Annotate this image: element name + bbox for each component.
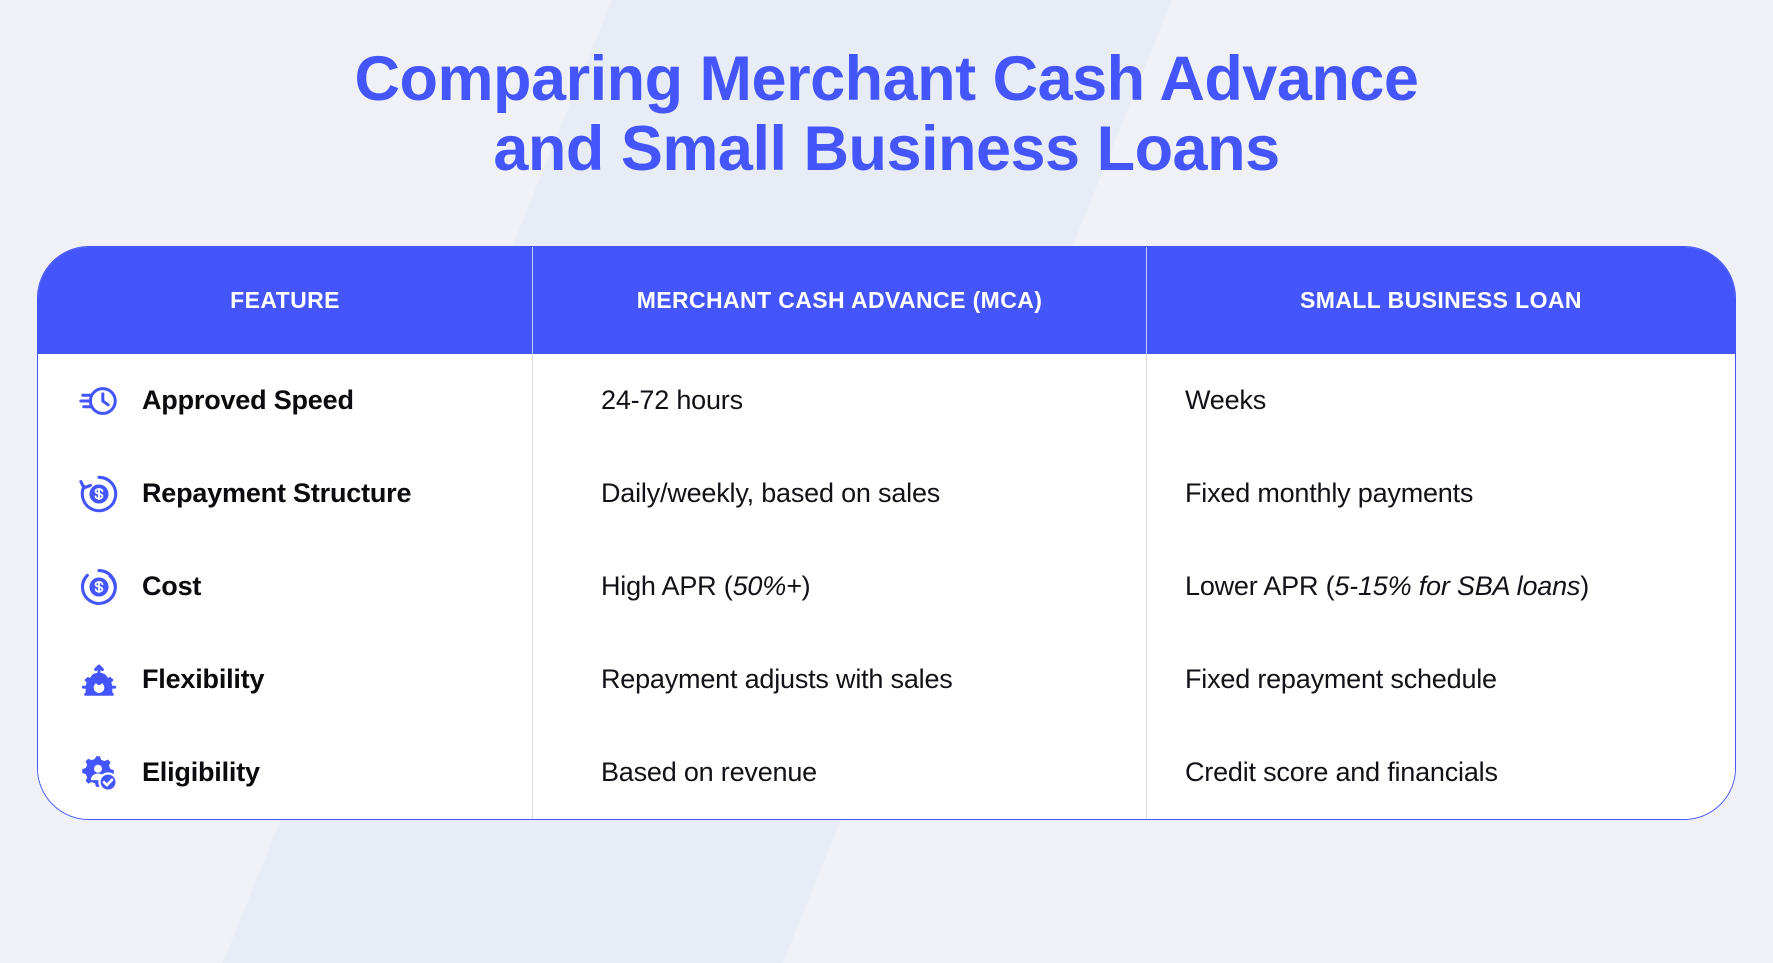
sbl-value-cell: Credit score and financials xyxy=(1146,726,1735,819)
mca-value-cell: High APR (50%+) xyxy=(532,540,1146,633)
sbl-value: Fixed repayment schedule xyxy=(1185,664,1497,695)
page-title-line-2: and Small Business Loans xyxy=(0,114,1773,184)
mca-value-cell: 24-72 hours xyxy=(532,354,1146,447)
feature-cell: Eligibility xyxy=(38,726,532,819)
page-title-line-1: Comparing Merchant Cash Advance xyxy=(0,44,1773,114)
cost-dollar-ring-icon xyxy=(78,566,120,608)
feature-label: Repayment Structure xyxy=(142,478,411,509)
sbl-value: Credit score and financials xyxy=(1185,757,1498,788)
comparison-table-card: FEATURE MERCHANT CASH ADVANCE (MCA) SMAL… xyxy=(37,246,1736,820)
sbl-value: Weeks xyxy=(1185,385,1266,416)
sbl-value: Fixed monthly payments xyxy=(1185,478,1473,509)
eligibility-person-gear-check-icon xyxy=(78,752,120,794)
page-title: Comparing Merchant Cash Advance and Smal… xyxy=(0,0,1773,184)
table-row: Cost High APR (50%+) Lower APR (5-15% fo… xyxy=(38,540,1735,633)
feature-label: Cost xyxy=(142,571,201,602)
feature-cell: Approved Speed xyxy=(38,354,532,447)
sbl-value-cell: Fixed monthly payments xyxy=(1146,447,1735,540)
sbl-value: Lower APR (5-15% for SBA loans) xyxy=(1185,571,1589,602)
column-header-mca: MERCHANT CASH ADVANCE (MCA) xyxy=(532,247,1146,354)
flexibility-gear-arrows-icon xyxy=(78,659,120,701)
feature-cell: Repayment Structure xyxy=(38,447,532,540)
table-row: Eligibility Based on revenue Credit scor… xyxy=(38,726,1735,819)
feature-label: Eligibility xyxy=(142,757,260,788)
speed-clock-icon xyxy=(78,380,120,422)
table-row: Repayment Structure Daily/weekly, based … xyxy=(38,447,1735,540)
feature-cell: Cost xyxy=(38,540,532,633)
sbl-value-cell: Fixed repayment schedule xyxy=(1146,633,1735,726)
mca-value: Repayment adjusts with sales xyxy=(601,664,953,695)
sbl-value-cell: Weeks xyxy=(1146,354,1735,447)
table-row: Flexibility Repayment adjusts with sales… xyxy=(38,633,1735,726)
mca-value-cell: Repayment adjusts with sales xyxy=(532,633,1146,726)
comparison-table: FEATURE MERCHANT CASH ADVANCE (MCA) SMAL… xyxy=(38,247,1735,819)
feature-label: Flexibility xyxy=(142,664,264,695)
feature-label: Approved Speed xyxy=(142,385,354,416)
mca-value: High APR (50%+) xyxy=(601,571,810,602)
sbl-value-cell: Lower APR (5-15% for SBA loans) xyxy=(1146,540,1735,633)
mca-value: Based on revenue xyxy=(601,757,817,788)
mca-value: 24-72 hours xyxy=(601,385,743,416)
mca-value: Daily/weekly, based on sales xyxy=(601,478,940,509)
repayment-refresh-dollar-icon xyxy=(78,473,120,515)
feature-cell: Flexibility xyxy=(38,633,532,726)
column-header-feature: FEATURE xyxy=(38,247,532,354)
mca-value-cell: Based on revenue xyxy=(532,726,1146,819)
table-body: Approved Speed 24-72 hours Weeks xyxy=(38,354,1735,819)
column-header-small-business-loan: SMALL BUSINESS LOAN xyxy=(1146,247,1735,354)
table-header-row: FEATURE MERCHANT CASH ADVANCE (MCA) SMAL… xyxy=(38,247,1735,354)
mca-value-cell: Daily/weekly, based on sales xyxy=(532,447,1146,540)
table-row: Approved Speed 24-72 hours Weeks xyxy=(38,354,1735,447)
